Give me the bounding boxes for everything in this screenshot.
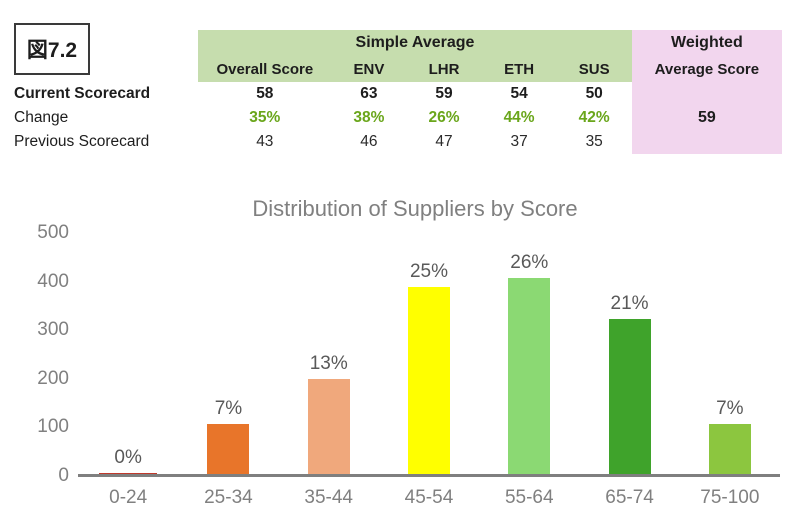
bar-data-label: 0% (114, 447, 141, 469)
header-row-label-cell (0, 56, 198, 82)
y-axis-tick-label: 400 (37, 271, 69, 293)
cell-change-overall: 35% (198, 106, 331, 130)
cell-current-sus: 50 (557, 82, 632, 106)
x-axis-tick-label: 0-24 (78, 487, 178, 509)
bar-slot: 21% (579, 233, 679, 476)
y-axis-tick-label: 0 (58, 465, 69, 487)
cell-previous-lhr: 47 (406, 130, 481, 154)
bar-data-label: 13% (310, 353, 348, 375)
distribution-bar-chart: Distribution of Suppliers by Score 50040… (0, 186, 800, 532)
cell-current-lhr: 59 (406, 82, 481, 106)
x-axis-tick-label: 55-64 (479, 487, 579, 509)
scorecard-table-container: Simple Average Weighted Overall Score EN… (0, 30, 800, 154)
bar-data-label: 7% (215, 398, 242, 420)
scorecard-table: Simple Average Weighted Overall Score EN… (0, 30, 782, 154)
cell-previous-overall: 43 (198, 130, 331, 154)
chart-bar[interactable] (207, 424, 249, 476)
chart-x-axis-line (78, 474, 780, 477)
row-label-change: Change (0, 106, 198, 130)
cell-change-env: 38% (331, 106, 406, 130)
chart-bar[interactable] (308, 379, 350, 476)
column-header-env: ENV (331, 56, 406, 82)
chart-title: Distribution of Suppliers by Score (0, 196, 800, 222)
x-axis-tick-label: 25-34 (178, 487, 278, 509)
bar-slot: 7% (178, 233, 278, 476)
bar-slot: 0% (78, 233, 178, 476)
table-header-sub-row: Overall Score ENV LHR ETH SUS Average Sc… (0, 56, 782, 82)
bar-slot: 7% (680, 233, 780, 476)
column-header-eth: ETH (482, 56, 557, 82)
chart-bar[interactable] (609, 319, 651, 476)
y-axis-tick-label: 100 (37, 416, 69, 438)
cell-change-eth: 44% (482, 106, 557, 130)
column-header-sus: SUS (557, 56, 632, 82)
y-axis-tick-label: 200 (37, 368, 69, 390)
cell-current-env: 63 (331, 82, 406, 106)
cell-current-eth: 54 (482, 82, 557, 106)
header-weighted-line2: Average Score (632, 56, 782, 82)
cell-current-overall: 58 (198, 82, 331, 106)
cell-change-lhr: 26% (406, 106, 481, 130)
bar-data-label: 7% (716, 398, 743, 420)
cell-previous-eth: 37 (482, 130, 557, 154)
bar-data-label: 21% (611, 293, 649, 315)
column-header-overall-score: Overall Score (198, 56, 331, 82)
row-label-previous-scorecard: Previous Scorecard (0, 130, 198, 154)
header-spacer-cell (0, 30, 198, 56)
table-header-group-row: Simple Average Weighted (0, 30, 782, 56)
chart-bar[interactable] (408, 287, 450, 476)
bar-data-label: 26% (510, 252, 548, 274)
x-axis-tick-label: 65-74 (579, 487, 679, 509)
column-header-lhr: LHR (406, 56, 481, 82)
row-label-current-scorecard: Current Scorecard (0, 82, 198, 106)
header-weighted-line1: Weighted (632, 30, 782, 56)
header-simple-average: Simple Average (198, 30, 632, 56)
x-axis-tick-label: 45-54 (379, 487, 479, 509)
chart-bar[interactable] (709, 424, 751, 476)
x-axis-tick-label: 35-44 (279, 487, 379, 509)
bar-slot: 13% (279, 233, 379, 476)
bar-data-label: 25% (410, 261, 448, 283)
y-axis-tick-label: 500 (37, 222, 69, 244)
cell-previous-sus: 35 (557, 130, 632, 154)
x-axis-tick-label: 75-100 (680, 487, 780, 509)
y-axis-tick-label: 300 (37, 319, 69, 341)
cell-previous-env: 46 (331, 130, 406, 154)
chart-bar[interactable] (508, 278, 550, 476)
bar-slot: 25% (379, 233, 479, 476)
bar-slot: 26% (479, 233, 579, 476)
table-row: Current Scorecard 58 63 59 54 50 59 (0, 82, 782, 106)
cell-change-sus: 42% (557, 106, 632, 130)
cell-weighted-average-score: 59 (632, 82, 782, 154)
chart-plot-area: 50040030020010000%7%13%25%26%21%7% (78, 233, 780, 476)
